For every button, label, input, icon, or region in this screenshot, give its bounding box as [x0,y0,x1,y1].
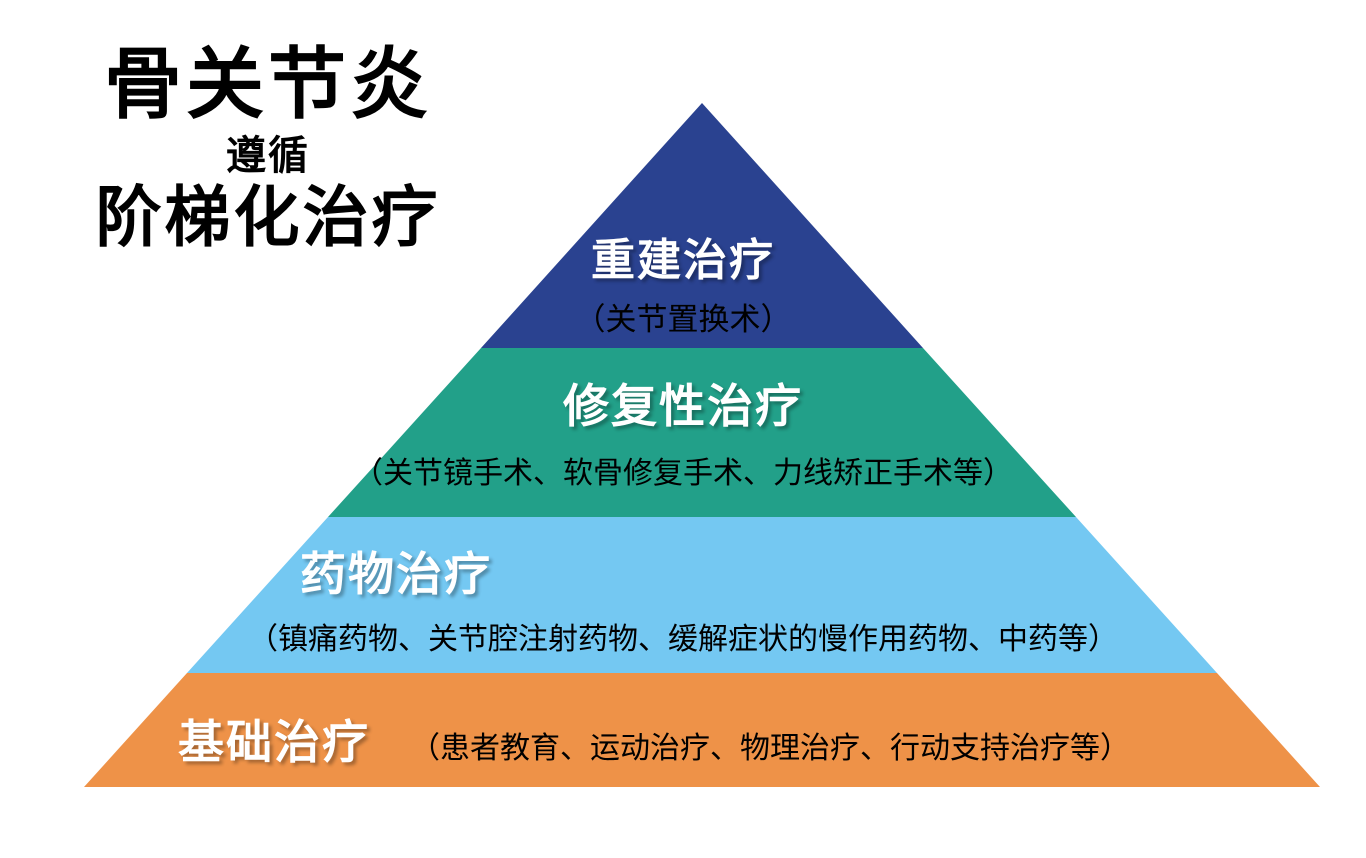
pyramid-tier-medication[interactable] [187,517,1217,673]
diagram-canvas: 骨关节炎 遵循 阶梯化治疗 重建治疗 （关节置换术） 修复性治疗 （关节镜手术、… [0,0,1366,858]
treatment-pyramid [0,0,1366,858]
pyramid-tier-repair[interactable] [328,348,1076,517]
pyramid-tier-basic[interactable] [84,673,1320,787]
pyramid-tier-reconstruction[interactable] [481,103,923,348]
